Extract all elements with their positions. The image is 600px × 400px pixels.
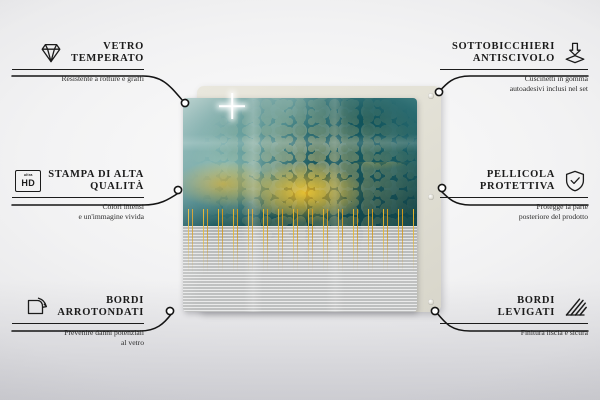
feature-header: PELLICOLA PROTETTIVA bbox=[440, 168, 588, 194]
polished-edge-icon bbox=[562, 294, 588, 320]
feature-title: VETRO TEMPERATO bbox=[71, 41, 144, 66]
feature-pellicola-protettiva[interactable]: PELLICOLA PROTETTIVA Protegge la parte p… bbox=[440, 168, 588, 221]
feature-header: ultra HD STAMPA DI ALTA QUALITÀ bbox=[12, 168, 144, 194]
feature-description: Protegge la parte posteriore del prodott… bbox=[440, 202, 588, 221]
infographic-stage: VETRO TEMPERATO Resistente a rotture e g… bbox=[0, 0, 600, 400]
feature-divider bbox=[440, 69, 588, 70]
feature-header: BORDI ARROTONDATI bbox=[12, 294, 144, 320]
rubber-foot bbox=[428, 93, 434, 99]
feature-header: VETRO TEMPERATO bbox=[12, 40, 144, 66]
feature-bordi-levigati[interactable]: BORDI LEVIGATI Finitura liscia e sicura bbox=[440, 294, 588, 338]
feature-title: STAMPA DI ALTA QUALITÀ bbox=[48, 169, 144, 194]
feature-divider bbox=[12, 197, 144, 198]
feature-description: Resistente a rotture e graffi bbox=[12, 74, 144, 84]
feature-title: SOTTOBICCHIERI ANTISCIVOLO bbox=[452, 41, 555, 66]
coaster-pad-icon bbox=[562, 40, 588, 66]
rubber-foot bbox=[428, 299, 434, 305]
feature-vetro-temperato[interactable]: VETRO TEMPERATO Resistente a rotture e g… bbox=[12, 40, 144, 84]
feature-divider bbox=[440, 197, 588, 198]
feature-title: BORDI ARROTONDATI bbox=[57, 295, 144, 320]
product-image bbox=[183, 86, 441, 315]
feature-divider bbox=[12, 323, 144, 324]
feature-description: Colori intensi e un'immagine vivida bbox=[12, 202, 144, 221]
feature-description: Finitura liscia e sicura bbox=[440, 328, 588, 338]
feature-sottobicchieri-antiscivolo[interactable]: SOTTOBICCHIERI ANTISCIVOLO Cuscinetti in… bbox=[440, 40, 588, 93]
shield-check-icon bbox=[562, 168, 588, 194]
rounded-corner-icon bbox=[24, 294, 50, 320]
ultra-hd-icon: ultra HD bbox=[15, 168, 41, 194]
diamond-icon bbox=[38, 40, 64, 66]
feature-stampa-alta-qualita[interactable]: ultra HD STAMPA DI ALTA QUALITÀ Colori i… bbox=[12, 168, 144, 221]
feature-title: BORDI LEVIGATI bbox=[498, 295, 555, 320]
feature-bordi-arrotondati[interactable]: BORDI ARROTONDATI Prevenire danni potenz… bbox=[12, 294, 144, 347]
feature-title: PELLICOLA PROTETTIVA bbox=[480, 169, 555, 194]
feature-header: SOTTOBICCHIERI ANTISCIVOLO bbox=[440, 40, 588, 66]
rubber-foot bbox=[428, 194, 434, 200]
glass-reflection bbox=[183, 98, 417, 312]
glass-panel-artwork bbox=[183, 98, 417, 312]
feature-description: Prevenire danni potenziali al vetro bbox=[12, 328, 144, 347]
feature-description: Cuscinetti in gomma autoadesivi inclusi … bbox=[440, 74, 588, 93]
feature-header: BORDI LEVIGATI bbox=[440, 294, 588, 320]
feature-divider bbox=[440, 323, 588, 324]
feature-divider bbox=[12, 69, 144, 70]
